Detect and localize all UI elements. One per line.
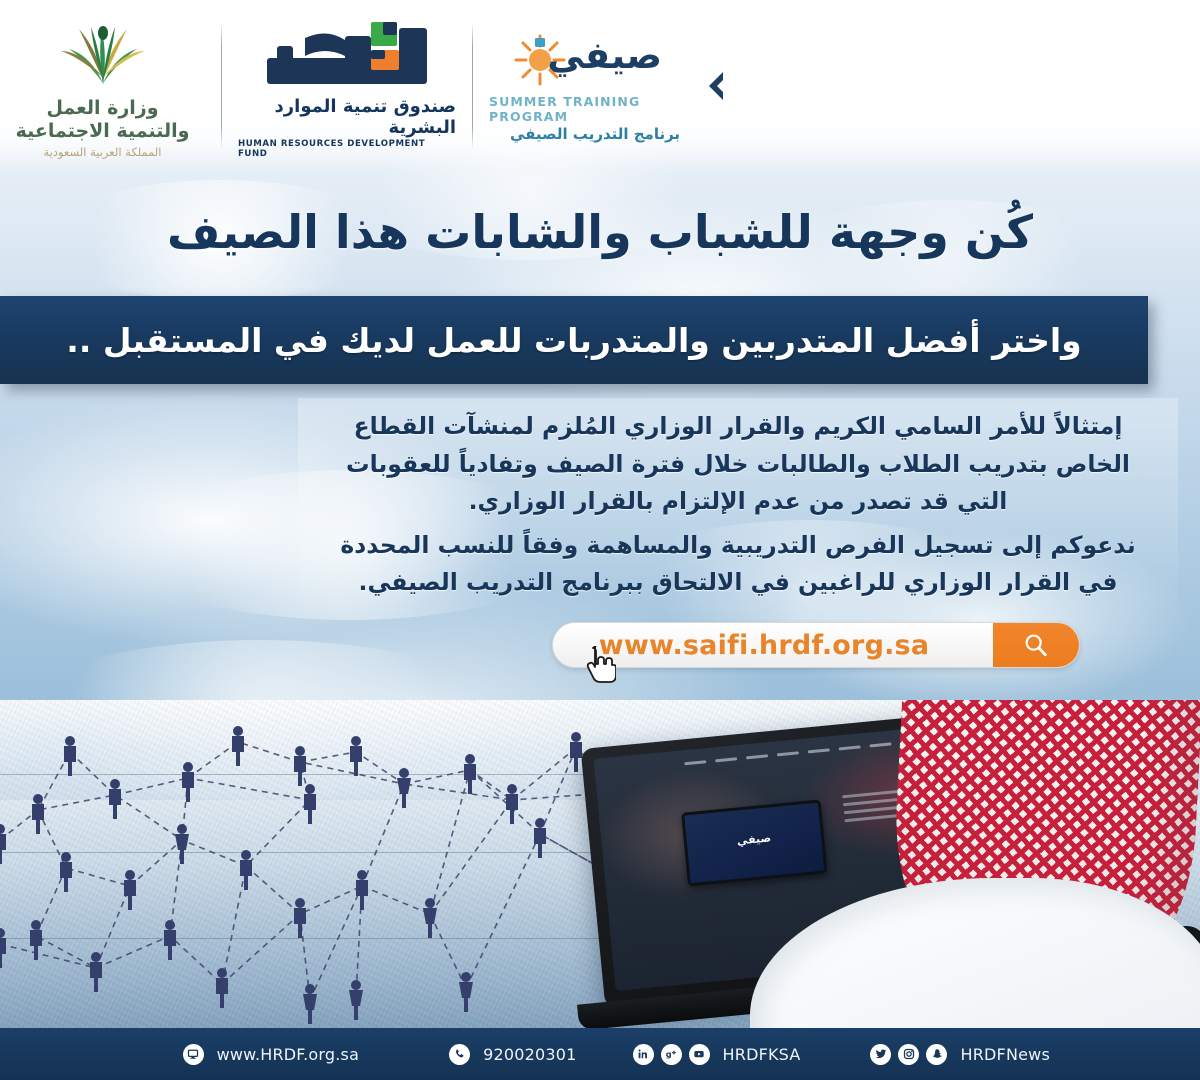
twitter-icon[interactable] [870, 1044, 891, 1065]
footer-social-group-ksa[interactable]: g HRDFKSA [633, 1044, 801, 1065]
photo-composite: صيفي برنامج صيفي صيفي [0, 700, 1200, 1048]
website-search-bar[interactable]: www.saifi.hrdf.org.sa [552, 622, 1080, 668]
tablet-device-in-photo: صيفي [681, 799, 827, 886]
hrdf-logo-english: HUMAN RESOURCES DEVELOPMENT FUND [238, 139, 456, 159]
youtube-icon[interactable] [689, 1044, 710, 1065]
tablet-screen-logo: صيفي [687, 827, 822, 853]
monitor-icon[interactable] [183, 1044, 204, 1065]
body-paragraph-1: إمتثالاً للأمر السامي الكريم والقرار الو… [320, 408, 1156, 521]
search-icon [1022, 631, 1050, 659]
logo-divider [472, 23, 473, 149]
hand-pointer-cursor-icon [582, 646, 616, 686]
footer-phone-number: 920020301 [483, 1045, 576, 1064]
footer-contact-bar: HRDFNews g HRDFKSA 920020301 [0, 1028, 1200, 1080]
body-text-panel: إمتثالاً للأمر السامي الكريم والقرار الو… [298, 398, 1178, 620]
search-button[interactable] [993, 622, 1079, 668]
man-wearing-shemagh-using-laptop [900, 700, 1200, 1048]
subtitle-band: واختر أفضل المتدربين والمتدربات للعمل لد… [0, 296, 1148, 384]
sun-icon [514, 34, 566, 86]
saifi-logo-arabic: برنامج التدريب الصيفي [510, 125, 680, 143]
header-logo-bar: وزارة العمل والتنمية الاجتماعية المملكة … [0, 0, 1200, 172]
googleplus-icon[interactable]: g [661, 1044, 682, 1065]
footer-website-url: www.HRDF.org.sa [217, 1045, 360, 1064]
page-title: كُن وجهة للشباب والشابات هذا الصيف [62, 206, 1138, 259]
footer-handle-news: HRDFNews [960, 1045, 1050, 1064]
footer-handle-ksa: HRDFKSA [723, 1045, 801, 1064]
search-bar-container[interactable]: www.saifi.hrdf.org.sa [552, 622, 1080, 668]
search-input[interactable]: www.saifi.hrdf.org.sa [553, 630, 993, 661]
footer-website-group[interactable]: www.HRDF.org.sa [183, 1044, 360, 1065]
saifi-wordmark: صيفي [500, 30, 690, 92]
people-network-diagram [0, 700, 660, 1030]
snapchat-icon[interactable] [926, 1044, 947, 1065]
footer-social-group-news[interactable]: HRDFNews [870, 1044, 1050, 1065]
saifi-logo-english: SUMMER TRAINING PROGRAM [489, 94, 701, 124]
logo-divider [221, 23, 222, 149]
hrdf-wordmark-icon [249, 14, 445, 94]
footer-phone-group[interactable]: 920020301 [449, 1044, 576, 1065]
palm-frond-emblem-icon [57, 19, 149, 93]
chevron-left-icon [701, 66, 727, 106]
svg-text:g: g [666, 1049, 672, 1059]
ministry-logo-line2: والتنمية الاجتماعية [16, 120, 190, 142]
hrdf-logo: صندوق تنمية الموارد البشرية HUMAN RESOUR… [238, 14, 456, 159]
hrdf-logo-arabic: صندوق تنمية الموارد البشرية [238, 96, 456, 138]
instagram-icon[interactable] [898, 1044, 919, 1065]
linkedin-icon[interactable] [633, 1044, 654, 1065]
ministry-logo-line1: وزارة العمل [46, 97, 158, 119]
phone-icon[interactable] [449, 1044, 470, 1065]
ministry-of-labor-logo: وزارة العمل والتنمية الاجتماعية المملكة … [0, 13, 205, 159]
body-paragraph-2: ندعوكم إلى تسجيل الفرص التدريبية والمساه… [320, 527, 1156, 602]
poster-root: وزارة العمل والتنمية الاجتماعية المملكة … [0, 0, 1200, 1080]
subtitle-text: واختر أفضل المتدربين والمتدربات للعمل لد… [24, 321, 1124, 360]
saifi-summer-program-logo: صيفي [489, 30, 701, 143]
ministry-logo-line3: المملكة العربية السعودية [44, 145, 162, 159]
